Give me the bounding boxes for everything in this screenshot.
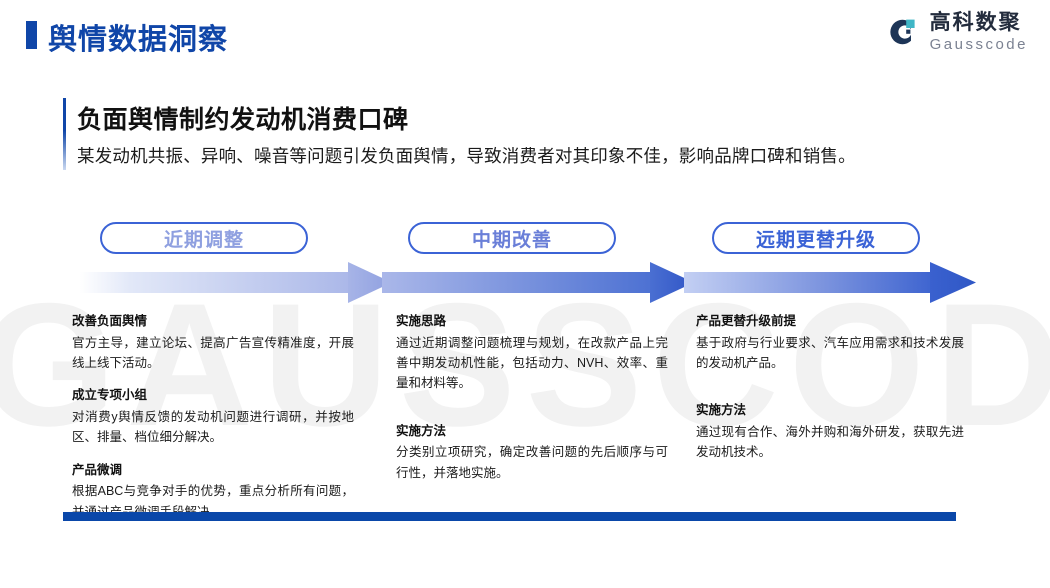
brand-name-en: Gausscode (930, 37, 1028, 52)
stage-pill-near-term[interactable]: 近期调整 (100, 222, 308, 254)
page-title: 舆情数据洞察 (48, 16, 228, 58)
slide-header: 舆情数据洞察 高科数聚 Gausscode (0, 0, 1050, 72)
main-heading: 负面舆情制约发动机消费口碑 (77, 100, 409, 136)
content-block-body: 基于政府与行业要求、汽车应用需求和技术发展的发动机产品。 (696, 333, 964, 374)
stage-pill-mid-term[interactable]: 中期改善 (408, 222, 616, 254)
content-block-heading: 产品更替升级前提 (696, 312, 964, 331)
timeline-arrow (0, 258, 1050, 308)
stage-column-mid-term: 实施思路 通过近期调整问题梳理与规划，在改款产品上完善中期发动机性能，包括动力、… (396, 312, 668, 483)
content-block: 实施方法 通过现有合作、海外并购和海外研发，获取先进发动机技术。 (696, 401, 964, 462)
stage-pill-long-term[interactable]: 远期更替升级 (712, 222, 920, 254)
gausscode-logo-icon (885, 14, 921, 50)
header-marker-icon (26, 21, 37, 49)
content-block-heading: 实施方法 (696, 401, 964, 420)
slide-canvas: GAUSSCODE 舆情数据洞察 高科数聚 Gausscode 负面舆情制约发动… (0, 0, 1050, 588)
content-block-body: 分类别立项研究，确定改善问题的先后顺序与可行性，并落地实施。 (396, 442, 668, 483)
content-block-body: 官方主导，建立论坛、提高广告宣传精准度，开展线上线下活动。 (72, 333, 354, 374)
content-block-heading: 实施方法 (396, 422, 668, 441)
content-block: 实施思路 通过近期调整问题梳理与规划，在改款产品上完善中期发动机性能，包括动力、… (396, 312, 668, 394)
content-block: 改善负面舆情 官方主导，建立论坛、提高广告宣传精准度，开展线上线下活动。 (72, 312, 354, 373)
brand-logo: 高科数聚 Gausscode (885, 12, 1028, 52)
stage-column-long-term: 产品更替升级前提 基于政府与行业要求、汽车应用需求和技术发展的发动机产品。 实施… (696, 312, 964, 463)
content-block: 成立专项小组 对消费y舆情反馈的发动机问题进行调研，并按地区、排量、档位细分解决… (72, 386, 354, 447)
content-block-body: 对消费y舆情反馈的发动机问题进行调研，并按地区、排量、档位细分解决。 (72, 407, 354, 448)
content-block-heading: 成立专项小组 (72, 386, 354, 405)
content-block-heading: 产品微调 (72, 461, 354, 480)
stage-pill-label: 中期改善 (472, 225, 552, 252)
stage-column-near-term: 改善负面舆情 官方主导，建立论坛、提高广告宣传精准度，开展线上线下活动。 成立专… (72, 312, 354, 522)
brand-logo-text: 高科数聚 Gausscode (930, 12, 1028, 52)
content-block-heading: 改善负面舆情 (72, 312, 354, 331)
content-block-body: 通过近期调整问题梳理与规划，在改款产品上完善中期发动机性能，包括动力、NVH、效… (396, 333, 668, 394)
title-accent-rule (63, 98, 66, 170)
content-block: 实施方法 分类别立项研究，确定改善问题的先后顺序与可行性，并落地实施。 (396, 422, 668, 483)
main-subheading: 某发动机共振、异响、噪音等问题引发负面舆情，导致消费者对其印象不佳，影响品牌口碑… (77, 143, 856, 168)
stage-pill-label: 近期调整 (164, 225, 244, 252)
content-block-body: 通过现有合作、海外并购和海外研发，获取先进发动机技术。 (696, 422, 964, 463)
content-block: 产品更替升级前提 基于政府与行业要求、汽车应用需求和技术发展的发动机产品。 (696, 312, 964, 373)
brand-name-cn: 高科数聚 (930, 12, 1028, 33)
stage-pill-label: 远期更替升级 (756, 225, 876, 252)
footer-accent-bar (63, 512, 956, 521)
content-block-heading: 实施思路 (396, 312, 668, 331)
